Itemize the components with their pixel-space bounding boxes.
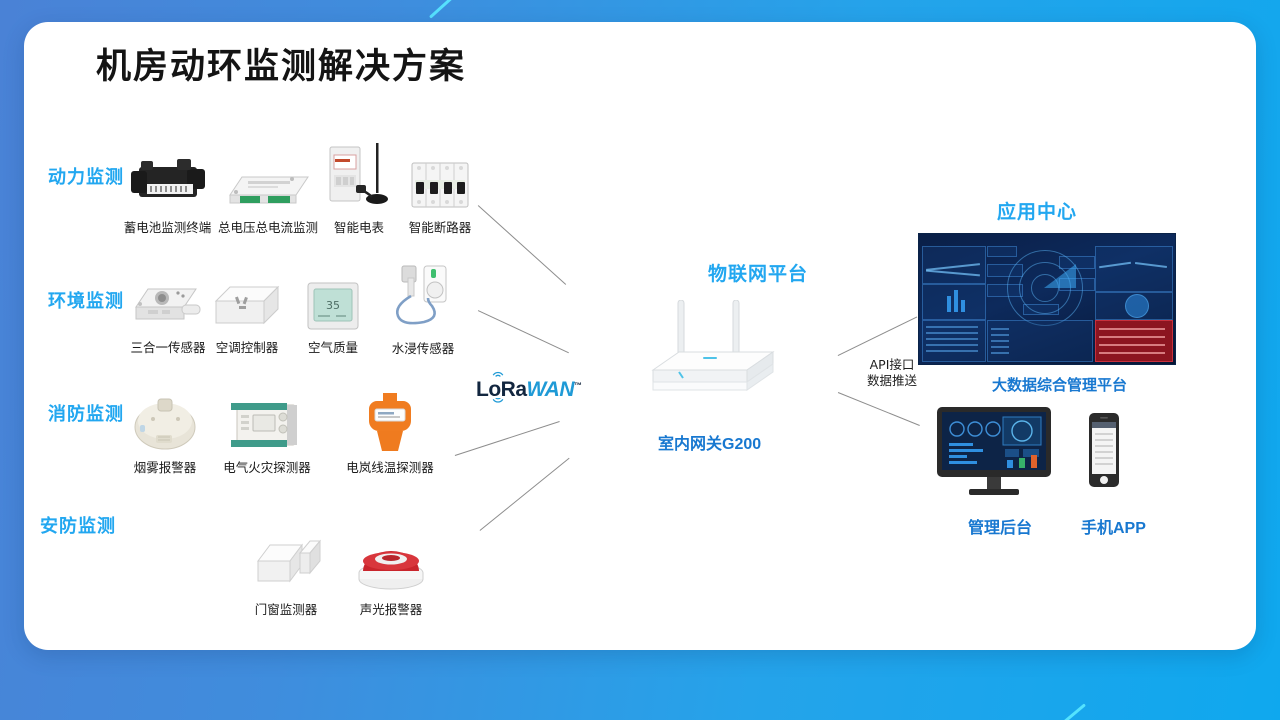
- device-smart-meter: 智能电表: [320, 130, 398, 236]
- device-caption: 总电压总电流监测: [208, 217, 328, 236]
- device-ac-controller: 空调控制器: [200, 265, 294, 356]
- mobile-app-illustration: [1088, 412, 1118, 487]
- voltage-current-module-icon: [208, 145, 328, 213]
- signal-wave-bottom-icon: [490, 398, 506, 407]
- big-data-dashboard-image: [918, 233, 1176, 365]
- smart-breaker-icon: [396, 145, 484, 213]
- api-line-2: 数据推送: [852, 373, 932, 389]
- device-caption: 电气火灾探测器: [207, 457, 327, 476]
- signal-wave-icon: [490, 366, 506, 378]
- door-window-sensor-icon: [238, 525, 334, 595]
- cable-temperature-detector-icon: [330, 385, 450, 453]
- device-electrical-fire-detector: 电气火灾探测器: [207, 385, 327, 476]
- lorawan-logo-part2: WAN: [527, 378, 575, 401]
- device-water-leak-sensor: 水浸传感器: [378, 258, 468, 357]
- device-battery-terminal: 蓄电池监测终端: [115, 145, 220, 236]
- water-leak-sensor-icon: [378, 258, 468, 334]
- svg-text:35: 35: [326, 299, 340, 312]
- battery-terminal-icon: [115, 145, 220, 213]
- group-label-fire: 消防监测: [48, 400, 124, 426]
- sound-light-alarm-icon: [343, 525, 439, 595]
- device-smart-breaker: 智能断路器: [396, 145, 484, 236]
- device-sound-light-alarm: 声光报警器: [343, 525, 439, 618]
- device-caption: 门窗监测器: [238, 599, 334, 618]
- air-quality-monitor-icon: 35: [295, 265, 371, 333]
- ac-controller-icon: [200, 265, 294, 333]
- device-air-quality: 35 空气质量: [295, 265, 371, 356]
- device-caption: 声光报警器: [343, 599, 439, 618]
- lorawan-trademark: ™: [574, 381, 582, 390]
- device-caption: 水浸传感器: [378, 338, 468, 357]
- big-data-platform-label: 大数据综合管理平台: [992, 374, 1127, 395]
- gateway-device-label: 室内网关G200: [658, 430, 761, 454]
- device-caption: 蓄电池监测终端: [115, 217, 220, 236]
- slide-canvas: 机房动环监测解决方案 动力监测 蓄电池监测终端: [0, 0, 1280, 720]
- device-smoke-alarm: 烟雾报警器: [118, 385, 212, 476]
- device-caption: 烟雾报警器: [118, 457, 212, 476]
- group-label-environment: 环境监测: [48, 287, 124, 313]
- iot-platform-heading: 物联网平台: [708, 259, 808, 286]
- page-title: 机房动环监测解决方案: [96, 38, 466, 89]
- application-center-heading: 应用中心: [997, 197, 1077, 224]
- electrical-fire-detector-icon: [207, 385, 327, 453]
- device-cable-temperature-detector: 电岚线温探测器: [330, 385, 450, 476]
- smoke-alarm-icon: [118, 385, 212, 453]
- console-label: 管理后台: [968, 514, 1032, 538]
- device-caption: 智能断路器: [396, 217, 484, 236]
- console-illustration: [935, 405, 1053, 495]
- device-door-window-monitor: 门窗监测器: [238, 525, 334, 618]
- smart-meter-icon: [320, 130, 398, 213]
- device-caption: 空调控制器: [200, 337, 294, 356]
- lorawan-logo: LoRaWAN™: [476, 378, 582, 402]
- gateway-illustration: [645, 300, 785, 400]
- mobile-app-label: 手机APP: [1081, 514, 1146, 538]
- device-caption: 空气质量: [295, 337, 371, 356]
- group-label-power: 动力监测: [48, 163, 124, 189]
- device-caption: 电岚线温探测器: [330, 457, 450, 476]
- group-label-security: 安防监测: [40, 512, 116, 538]
- device-voltage-current-monitor: 总电压总电流监测: [208, 145, 328, 236]
- device-caption: 智能电表: [320, 217, 398, 236]
